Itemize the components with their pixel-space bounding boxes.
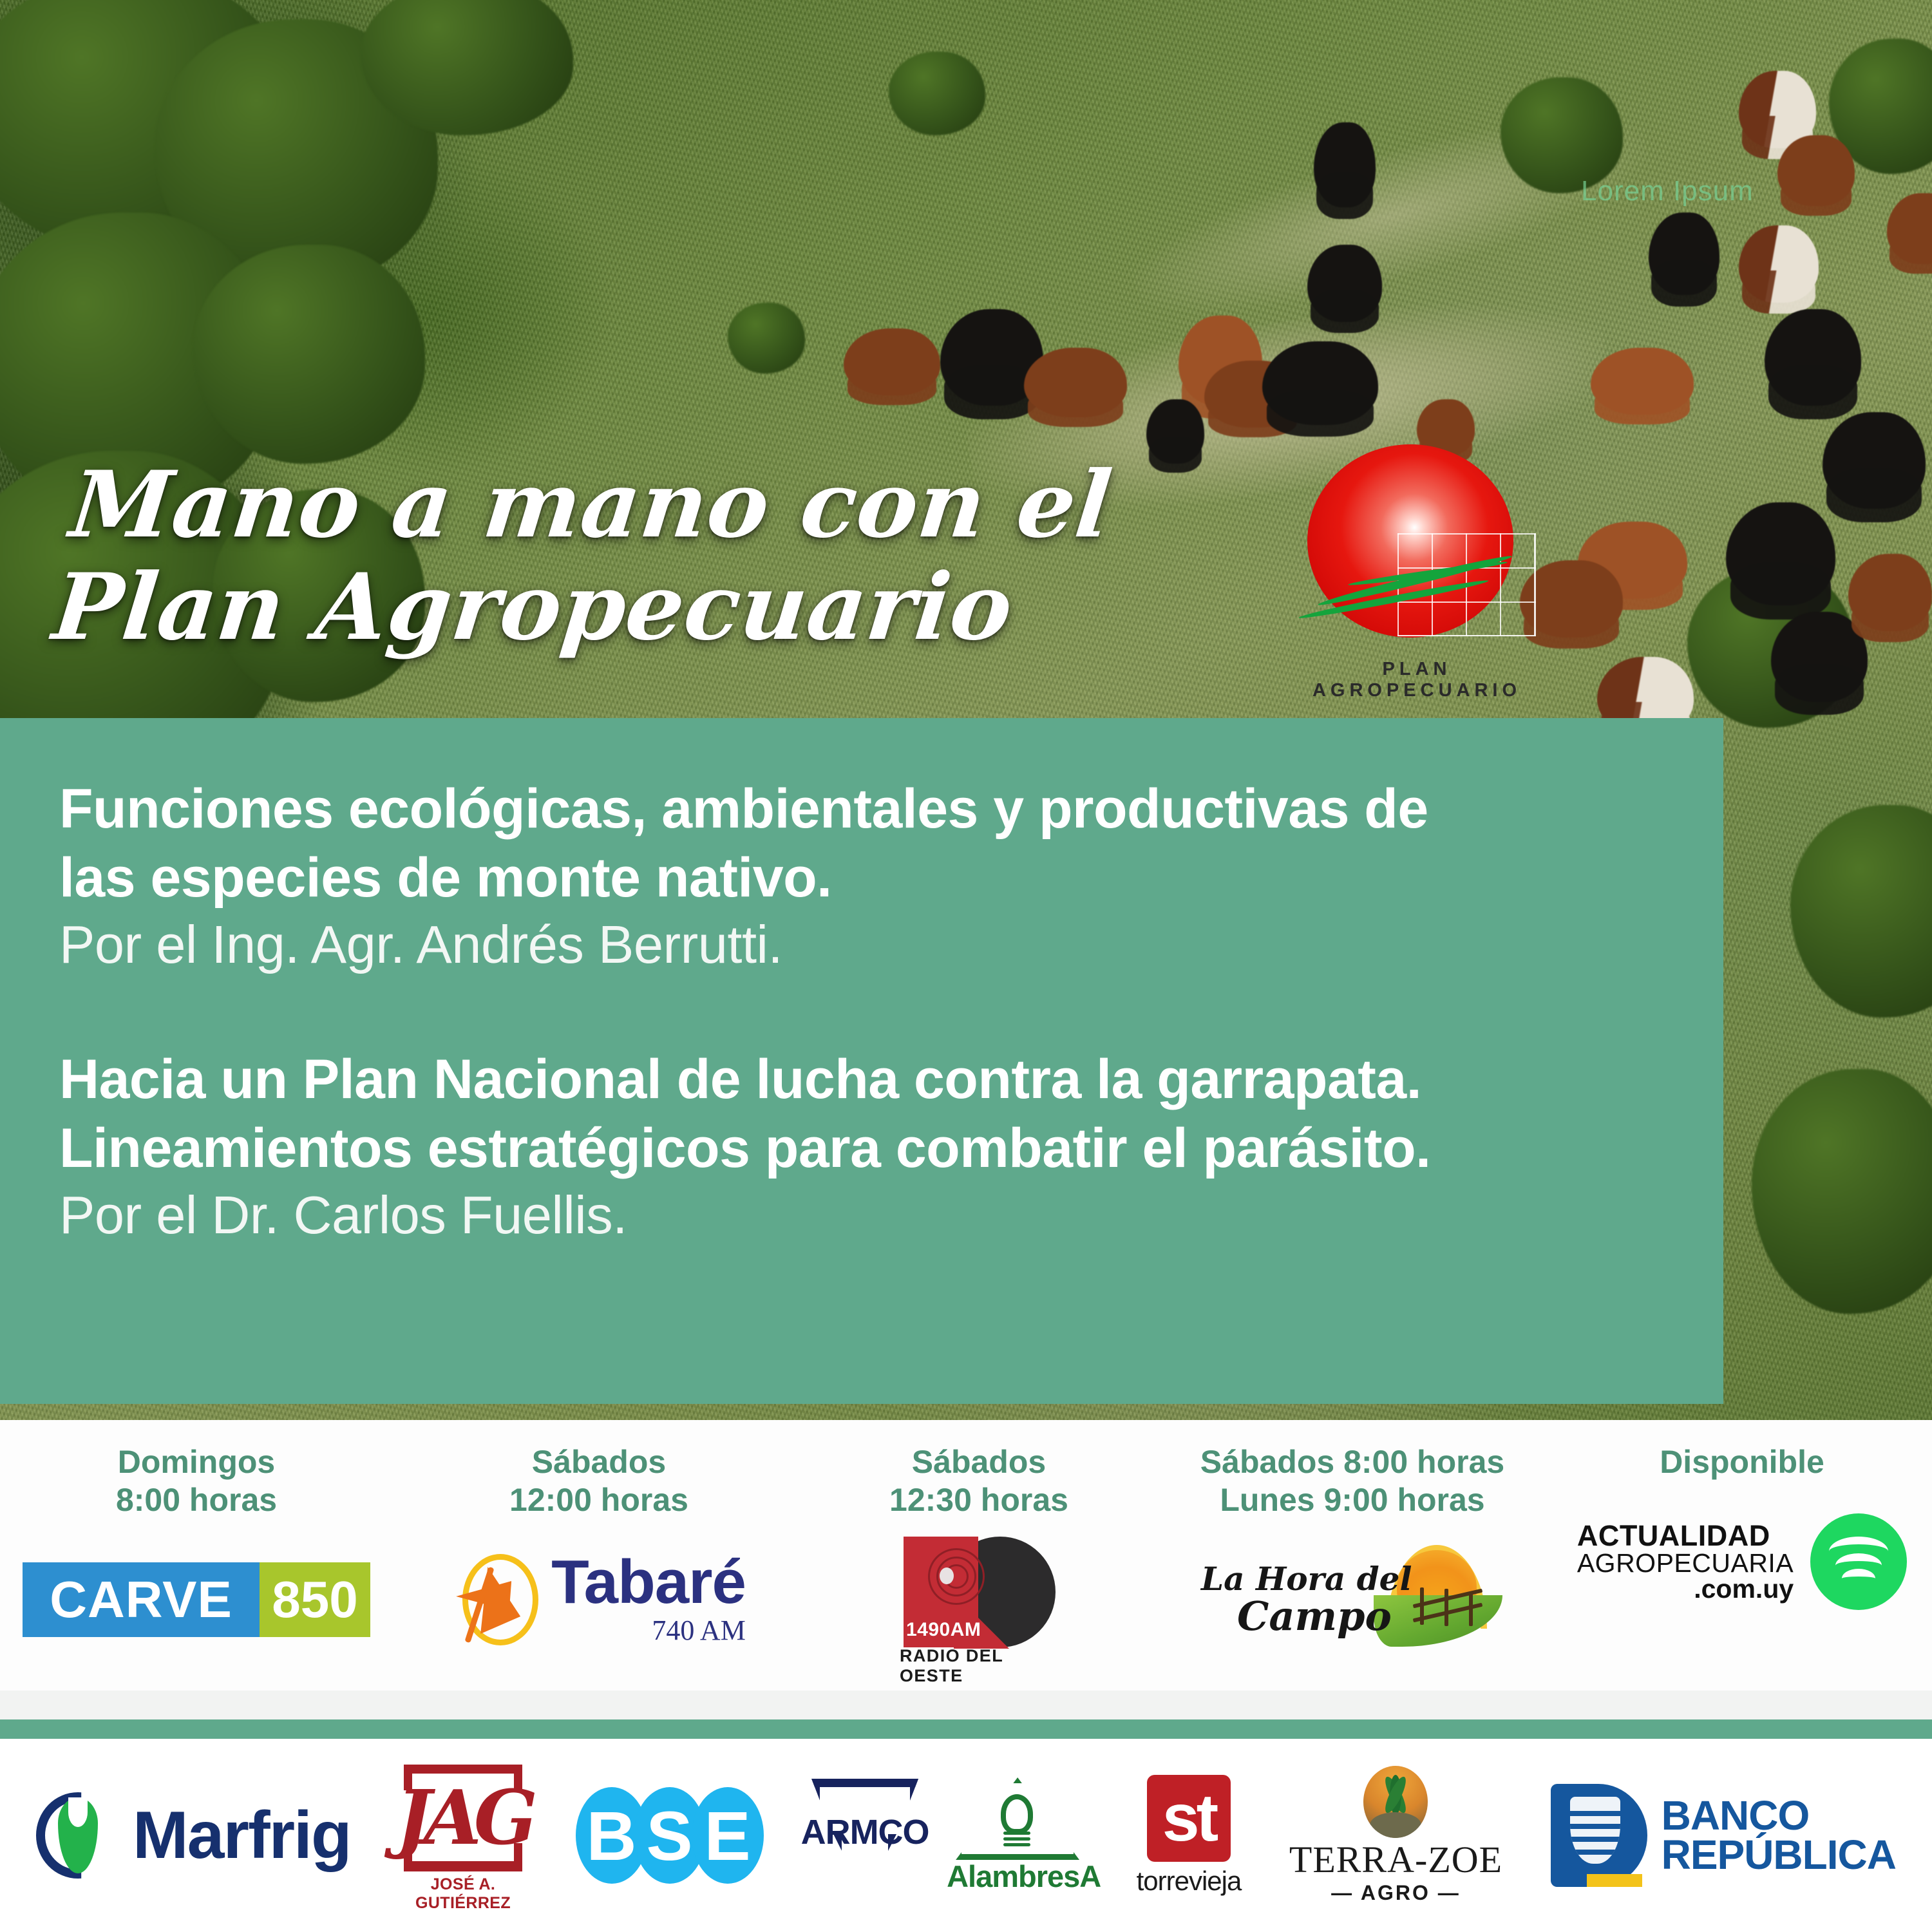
sprout-icon	[1363, 1766, 1428, 1838]
broadcast-schedule-strip: Domingos 8:00 horas CARVE 850 Sábados 12…	[0, 1420, 1932, 1690]
broadcast-column-actualidad-spotify[interactable]: Disponible ACTUALIDAD AGROPECUARIA .com.…	[1552, 1420, 1932, 1623]
sponsor-terra-zoe[interactable]: TERRA-ZOE — AGRO —	[1289, 1766, 1502, 1905]
cow	[1765, 309, 1861, 406]
page-title: Mano a mano con el Plan Agropecuario	[49, 459, 1151, 654]
broadcast-column-tabare[interactable]: Sábados 12:00 horas Tabaré 740 AM	[393, 1420, 805, 1661]
jag-subtitle: JOSÉ A. GUTIÉRREZ	[399, 1875, 527, 1913]
schedule-times-disponible: Disponible	[1660, 1443, 1824, 1481]
sponsor-banco-republica[interactable]: BANCO REPÚBLICA	[1551, 1784, 1896, 1887]
tree-canopy	[193, 245, 425, 464]
cow	[1024, 348, 1127, 417]
sponsor-armco-alambresa[interactable]: ARMCO AlambresA	[797, 1777, 1088, 1893]
cow	[1649, 213, 1719, 295]
concentric-rings-icon	[928, 1548, 985, 1605]
marfrig-wordmark: Marfrig	[133, 1797, 350, 1874]
carve-frequency: 850	[260, 1562, 370, 1637]
brou-shield-icon	[1551, 1784, 1647, 1887]
torrevieja-wordmark: torrevieja	[1137, 1866, 1242, 1897]
cow	[1307, 245, 1382, 322]
actualidad-line-2: AGROPECUARIA	[1577, 1550, 1794, 1576]
la-hora-del-campo-logo[interactable]: La Hora del Campo	[1201, 1539, 1504, 1661]
disc-hole-icon	[940, 1567, 954, 1584]
armco-logo[interactable]: ARMCO	[797, 1779, 933, 1892]
radio-del-oeste-frequency: 1490AM	[906, 1619, 981, 1641]
broadcast-column-radio-del-oeste[interactable]: Sábados 12:30 horas 1490AM RADIO DEL OES…	[805, 1420, 1153, 1661]
separator-bar	[0, 1719, 1932, 1739]
armco-wordmark: ARMCO	[797, 1812, 933, 1852]
sponsor-jose-a-gutierrez[interactable]: JAG JOSÉ A. GUTIÉRREZ	[399, 1765, 527, 1906]
topic-1-headline-line-1: Funciones ecológicas, ambientales y prod…	[59, 775, 1723, 844]
terra-zoe-wordmark: TERRA-ZOE	[1289, 1838, 1502, 1881]
tabare-740am-logo[interactable]: Tabaré 740 AM	[452, 1539, 746, 1661]
cow	[1823, 412, 1926, 509]
broadcast-column-la-hora-del-campo[interactable]: Sábados 8:00 horas Lunes 9:00 horas La H…	[1153, 1420, 1552, 1661]
la-hora-del-campo-line-2: Campo	[1201, 1597, 1412, 1636]
carve-850-logo[interactable]: CARVE 850	[23, 1539, 370, 1661]
topic-2-byline: Por el Dr. Carlos Fuellis.	[59, 1182, 1723, 1249]
sponsor-strip: Marfrig JAG JOSÉ A. GUTIÉRREZ B S E	[0, 1739, 1932, 1932]
sailboat-icon	[452, 1551, 542, 1648]
watermark-text: Lorem Ipsum	[1581, 175, 1754, 207]
sponsor-marfrig[interactable]: Marfrig	[36, 1792, 350, 1879]
cow	[1848, 554, 1932, 631]
actualidad-line-1: ACTUALIDAD	[1577, 1522, 1794, 1550]
separator-gap	[0, 1690, 1932, 1719]
plan-agropecuario-logo: PLAN AGROPECUARIO	[1288, 444, 1546, 696]
bulb-icon	[1001, 1794, 1033, 1834]
bse-letter-e: E	[692, 1787, 764, 1884]
topic-2-headline-line-1: Hacia un Plan Nacional de lucha contra l…	[59, 1045, 1723, 1114]
tabare-frequency: 740 AM	[551, 1614, 746, 1647]
actualidad-line-3: .com.uy	[1577, 1576, 1794, 1602]
topic-1-byline: Por el Ing. Agr. Andrés Berrutti.	[59, 912, 1723, 978]
actualidad-agropecuaria-logo[interactable]: ACTUALIDAD AGROPECUARIA .com.uy	[1577, 1522, 1794, 1602]
wire-coil-icon	[1003, 1832, 1030, 1847]
marfrig-leaf-icon	[36, 1792, 120, 1879]
schedule-times-carve: Domingos 8:00 horas	[116, 1443, 277, 1519]
topic-2-headline-line-2: Lineamientos estratégicos para combatir …	[59, 1114, 1723, 1183]
broadcast-column-carve[interactable]: Domingos 8:00 horas CARVE 850	[0, 1420, 393, 1661]
cow	[1314, 122, 1376, 207]
topics-spacer	[59, 978, 1723, 1045]
schedule-times-la-hora-del-campo: Sábados 8:00 horas Lunes 9:00 horas	[1200, 1443, 1504, 1519]
cow	[1726, 502, 1835, 605]
actualidad-spotify-logos[interactable]: ACTUALIDAD AGROPECUARIA .com.uy	[1577, 1501, 1907, 1623]
cow	[1739, 225, 1819, 303]
schedule-times-radio-del-oeste: Sábados 12:30 horas	[889, 1443, 1068, 1519]
topics-panel: Funciones ecológicas, ambientales y prod…	[0, 718, 1723, 1404]
alambresa-wordmark: AlambresA	[947, 1859, 1088, 1894]
sponsor-torrevieja[interactable]: st torrevieja	[1137, 1775, 1242, 1897]
cow	[844, 328, 940, 395]
jag-monogram: JAG	[399, 1775, 527, 1861]
radio-del-oeste-wordmark: RADIO DEL OESTE	[900, 1646, 1061, 1686]
spotify-icon[interactable]	[1810, 1513, 1907, 1610]
page-title-line-1: Mano a mano con el	[60, 459, 1151, 552]
cow	[1146, 399, 1204, 464]
topic-1-headline-line-2: las especies de monte nativo.	[59, 844, 1723, 913]
fence-icon	[1412, 1587, 1483, 1627]
alambresa-logo[interactable]: AlambresA	[947, 1777, 1088, 1893]
schedule-times-tabare: Sábados 12:00 horas	[509, 1443, 688, 1519]
cow	[1591, 348, 1694, 415]
shrub	[889, 52, 985, 135]
la-hora-del-campo-line-1: La Hora del	[1201, 1564, 1412, 1595]
torrevieja-mark: st	[1147, 1775, 1231, 1862]
terra-zoe-subtitle: — AGRO —	[1331, 1881, 1461, 1905]
carve-wordmark: CARVE	[23, 1562, 260, 1637]
radio-del-oeste-logo[interactable]: 1490AM RADIO DEL OESTE	[898, 1539, 1059, 1661]
cow	[1262, 341, 1378, 425]
shrub	[728, 303, 805, 374]
poster-root: Lorem Ipsum Mano a mano con el Plan Agro…	[0, 0, 1932, 1932]
sponsor-bse[interactable]: B S E	[576, 1787, 750, 1884]
plan-agropecuario-caption: PLAN AGROPECUARIO	[1288, 659, 1546, 701]
brou-wordmark-line-1: BANCO	[1662, 1796, 1896, 1835]
cow	[1777, 135, 1855, 206]
brou-wordmark-line-2: REPÚBLICA	[1662, 1835, 1896, 1875]
page-title-line-2: Plan Agropecuario	[49, 561, 1141, 654]
tabare-wordmark: Tabaré	[551, 1553, 746, 1612]
